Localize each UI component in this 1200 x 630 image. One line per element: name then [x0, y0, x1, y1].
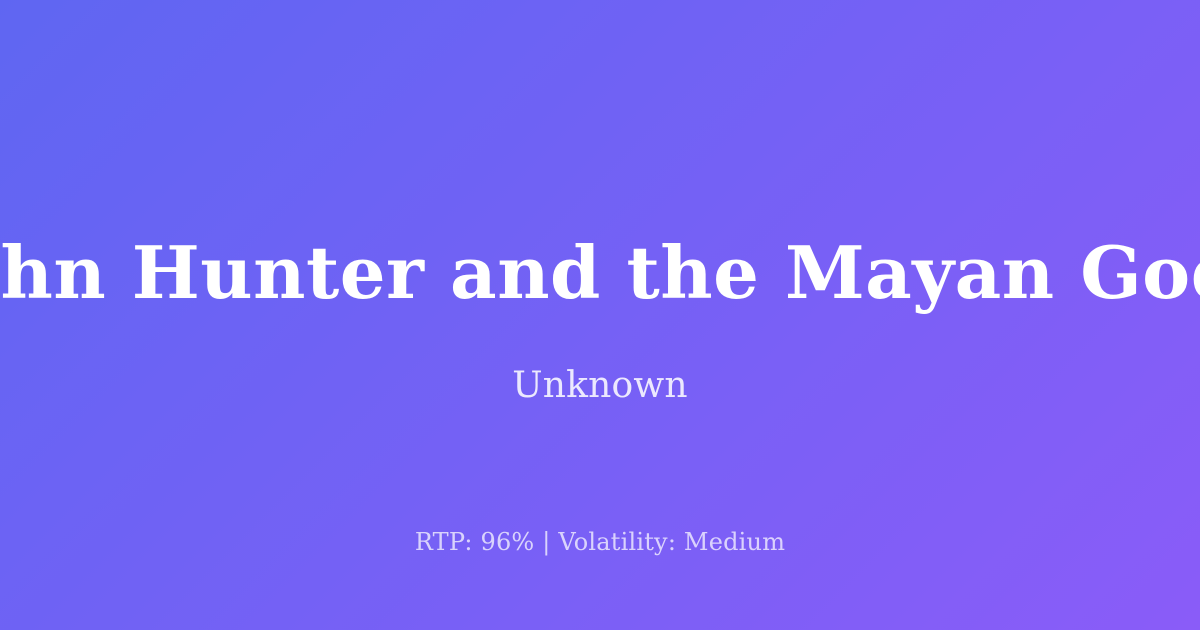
title-container: John Hunter and the Mayan Gods: [0, 228, 1200, 318]
meta-container: RTP: 96% | Volatility: Medium: [0, 526, 1200, 558]
game-meta-line: RTP: 96% | Volatility: Medium: [415, 528, 785, 556]
provider-container: Unknown: [0, 362, 1200, 410]
page-title: John Hunter and the Mayan Gods: [0, 228, 1200, 318]
provider-name: Unknown: [512, 365, 688, 406]
og-card: John Hunter and the Mayan Gods Unknown R…: [0, 0, 1200, 630]
